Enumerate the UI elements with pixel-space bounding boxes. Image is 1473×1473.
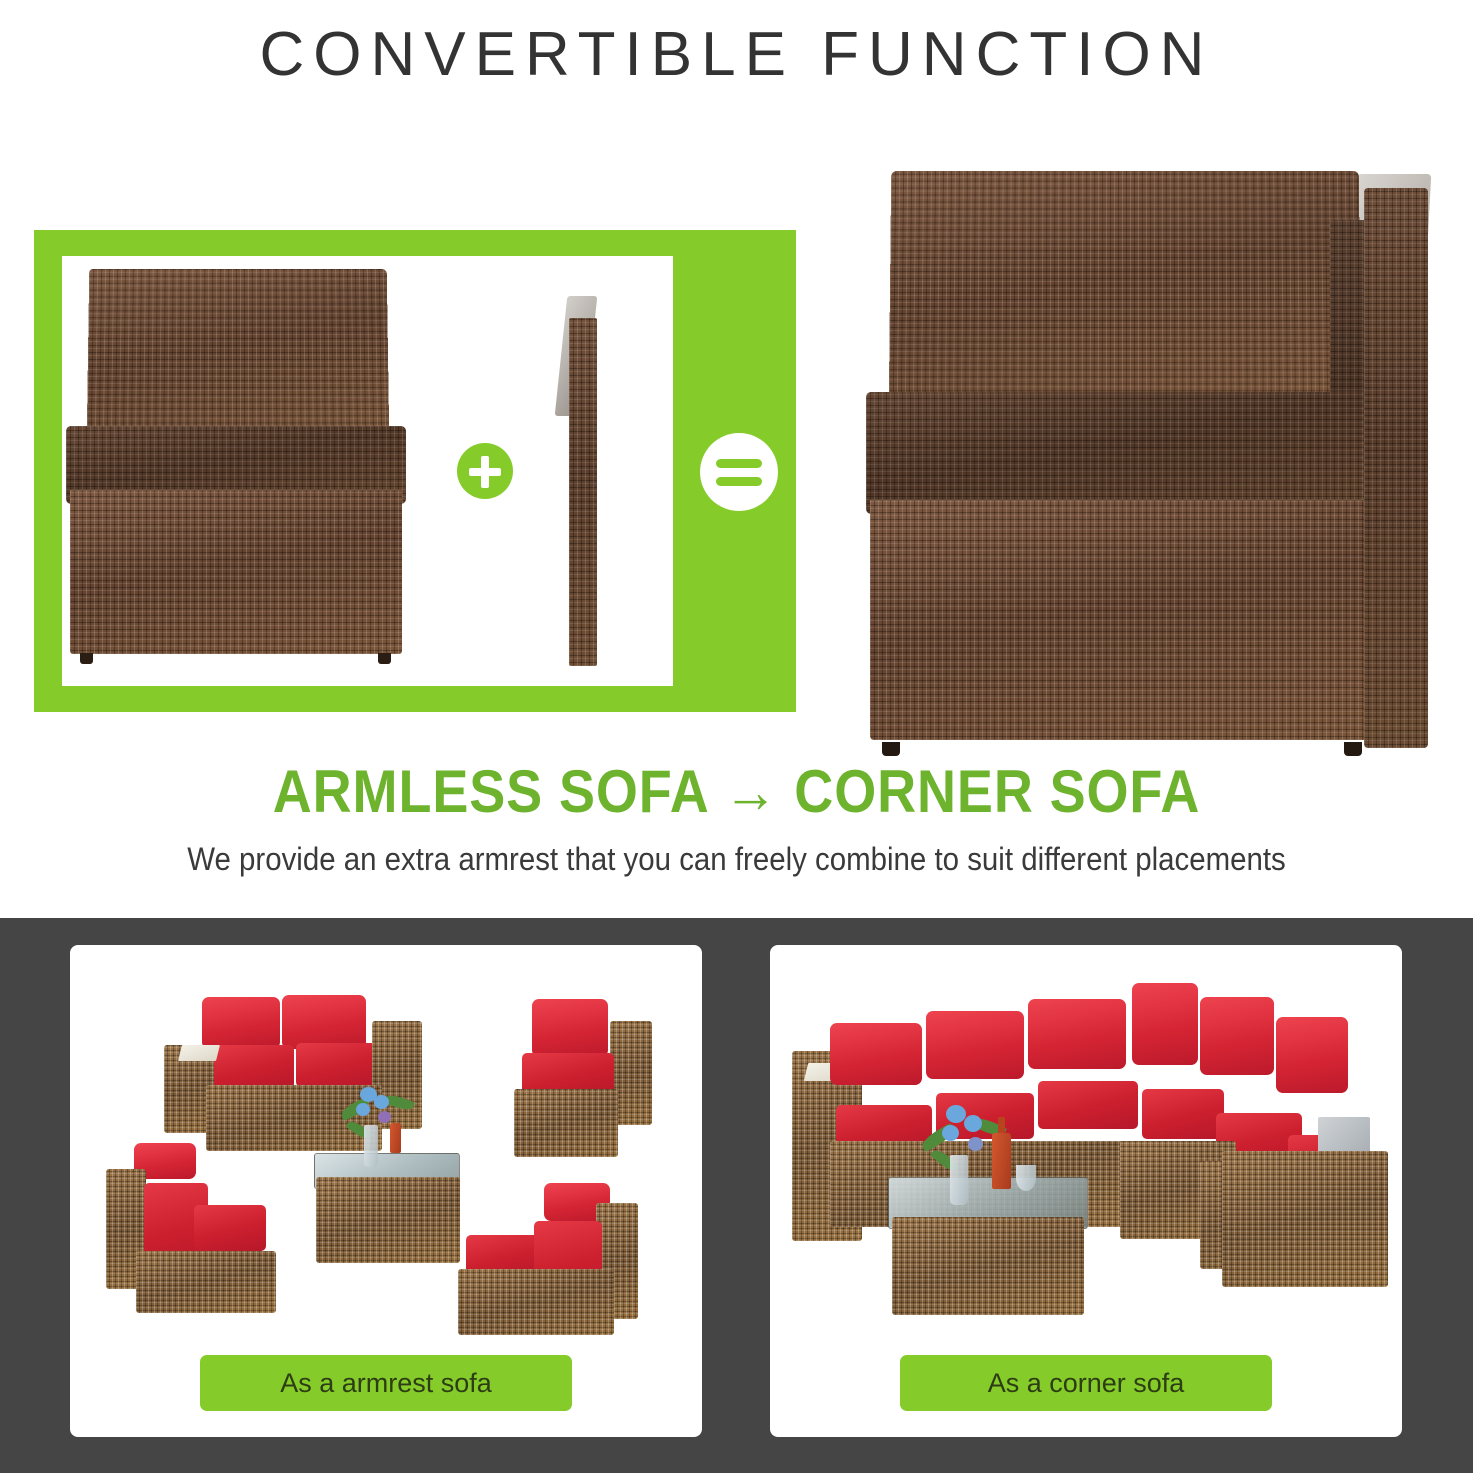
loveseat-seat-cushion <box>296 1043 378 1087</box>
armchair-base <box>136 1251 276 1313</box>
flower <box>378 1111 391 1123</box>
armrest-layout-scene <box>70 945 702 1365</box>
corner-sofa-armrest-outer <box>1364 188 1428 748</box>
flower <box>356 1103 370 1116</box>
corner-layout-scene <box>770 945 1402 1365</box>
flower <box>946 1105 966 1123</box>
armrest-frame <box>1222 1151 1388 1287</box>
sofa-foot <box>1344 742 1362 756</box>
back-cushion <box>1132 983 1198 1065</box>
flower <box>968 1137 983 1151</box>
corner-sofa-base <box>870 500 1378 740</box>
armrest-layout-card: As a armrest sofa <box>70 945 702 1437</box>
armchair-right-top <box>468 997 658 1163</box>
sectional-corner-backrest <box>1132 983 1372 1087</box>
armchair-front-right <box>448 1177 648 1353</box>
armless-sofa-base <box>70 490 402 654</box>
flower-arrangement <box>920 1103 1040 1213</box>
magazine <box>178 1045 220 1061</box>
armrest-sofa-button[interactable]: As a armrest sofa <box>200 1355 572 1411</box>
plus-operator-icon <box>457 443 513 499</box>
flower <box>374 1095 389 1109</box>
armchair-seat-cushion <box>194 1205 266 1251</box>
corner-sofa-button[interactable]: As a corner sofa <box>900 1355 1272 1411</box>
sofa-foot <box>378 653 391 664</box>
glass <box>1016 1165 1036 1191</box>
coffee-table-body <box>892 1217 1084 1315</box>
armchair-back-cushion <box>532 999 608 1057</box>
page-title: CONVERTIBLE FUNCTION <box>0 24 1473 86</box>
flower-arrangement <box>338 1085 424 1175</box>
vase <box>950 1155 968 1205</box>
armless-sofa-backrest <box>87 269 390 441</box>
bottle <box>390 1123 401 1153</box>
equals-operator-icon <box>700 433 778 511</box>
conversion-headline: ARMLESS SOFA → CORNER SOFA <box>74 760 1400 823</box>
bottle <box>992 1133 1011 1189</box>
layouts-section: As a armrest sofa <box>0 918 1473 1473</box>
seat-cushion <box>1142 1089 1224 1139</box>
armchair-base <box>458 1269 614 1335</box>
loveseat-back-cushion <box>202 997 280 1049</box>
flower <box>942 1125 959 1141</box>
sofa-foot <box>80 653 93 664</box>
seat-cushion <box>1038 1081 1138 1129</box>
corner-sofa-seat <box>866 392 1378 514</box>
loveseat-seat-cushion <box>214 1045 294 1089</box>
armchair-base <box>514 1089 618 1157</box>
conversion-subtitle: We provide an extra armrest that you can… <box>59 842 1414 877</box>
armchair-front-left <box>100 1139 290 1319</box>
corner-sofa-illustration <box>852 160 1452 760</box>
loveseat-back-cushion <box>282 995 366 1049</box>
back-cushion <box>1028 999 1126 1069</box>
vase <box>364 1125 378 1167</box>
armrest-panel-illustration <box>561 288 599 666</box>
sectional-right-armrest <box>1222 1117 1392 1297</box>
corner-layout-card: As a corner sofa <box>770 945 1402 1437</box>
flower <box>964 1115 982 1132</box>
armless-sofa-illustration <box>62 268 410 666</box>
coffee-table-body <box>316 1177 460 1263</box>
sofa-foot <box>882 742 900 756</box>
armrest-panel-body <box>569 318 597 666</box>
back-cushion <box>1200 997 1274 1075</box>
corner-sofa-backrest <box>889 171 1361 409</box>
